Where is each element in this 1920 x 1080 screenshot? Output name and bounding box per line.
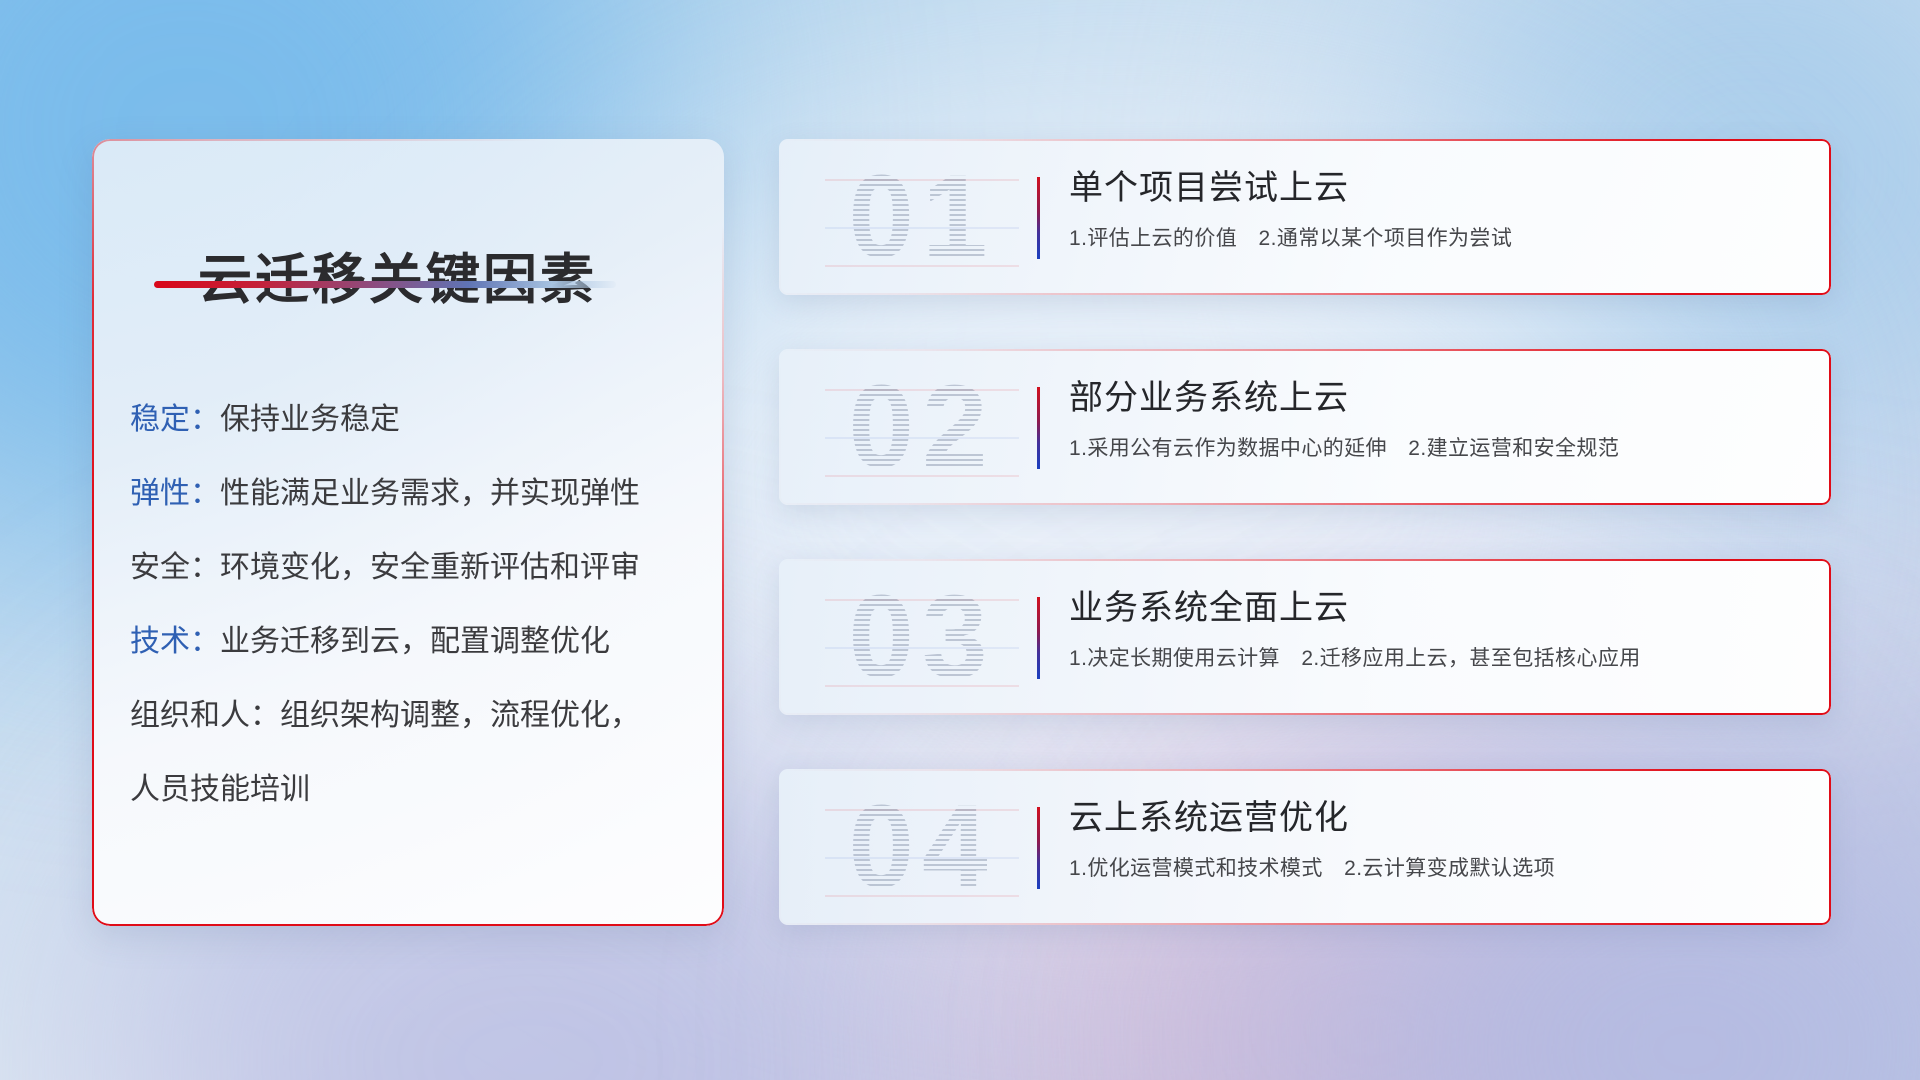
- step-title: 业务系统全面上云: [1069, 585, 1809, 631]
- migration-steps-list: 01 单个项目尝试上云 1.评估上云的价值 2.通常以某个项目作为尝试 02 部…: [779, 139, 1831, 979]
- step-card[interactable]: 03 业务系统全面上云 1.决定长期使用云计算 2.迁移应用上云，甚至包括核心应…: [779, 559, 1831, 715]
- step-subtitle: 1.优化运营模式和技术模式 2.云计算变成默认选项: [1069, 855, 1809, 883]
- step-divider-bar: [1037, 807, 1040, 889]
- factor-text: 保持业务稳定: [220, 403, 400, 436]
- factor-label: 技术：: [130, 625, 220, 658]
- step-subtitle: 1.采用公有云作为数据中心的延伸 2.建立运营和安全规范: [1069, 435, 1809, 463]
- step-number-label: 03: [848, 569, 995, 705]
- factor-text: 环境变化，安全重新评估和评审: [220, 551, 640, 584]
- step-subtitle: 1.评估上云的价值 2.通常以某个项目作为尝试: [1069, 225, 1809, 253]
- factor-label: 安全：: [130, 551, 220, 584]
- step-number-graphic: 04: [817, 771, 1027, 923]
- step-title: 云上系统运营优化: [1069, 795, 1809, 841]
- factor-text: 组织架构调整，流程优化，: [280, 699, 640, 732]
- factor-label: 组织和人：: [130, 699, 280, 732]
- step-divider-bar: [1037, 387, 1040, 469]
- factor-text: 业务迁移到云，配置调整优化: [220, 625, 610, 658]
- step-card[interactable]: 02 部分业务系统上云 1.采用公有云作为数据中心的延伸 2.建立运营和安全规范: [779, 349, 1831, 505]
- step-title: 单个项目尝试上云: [1069, 165, 1809, 211]
- factor-row: 弹性：性能满足业务需求，并实现弹性: [130, 457, 698, 531]
- factor-row: 技术：业务迁移到云，配置调整优化: [130, 605, 698, 679]
- factor-continuation-line: 人员技能培训: [130, 753, 698, 827]
- step-number-label: 02: [848, 359, 995, 495]
- step-body: 单个项目尝试上云 1.评估上云的价值 2.通常以某个项目作为尝试: [1069, 165, 1809, 253]
- step-divider-bar: [1037, 597, 1040, 679]
- step-number-graphic: 01: [817, 141, 1027, 293]
- factor-row: 安全：环境变化，安全重新评估和评审: [130, 531, 698, 605]
- step-card[interactable]: 04 云上系统运营优化 1.优化运营模式和技术模式 2.云计算变成默认选项: [779, 769, 1831, 925]
- step-body: 业务系统全面上云 1.决定长期使用云计算 2.迁移应用上云，甚至包括核心应用: [1069, 585, 1809, 673]
- step-number-graphic: 03: [817, 561, 1027, 713]
- factor-list: 稳定：保持业务稳定 弹性：性能满足业务需求，并实现弹性 安全：环境变化，安全重新…: [130, 383, 698, 827]
- step-body: 云上系统运营优化 1.优化运营模式和技术模式 2.云计算变成默认选项: [1069, 795, 1809, 883]
- factor-row: 组织和人：组织架构调整，流程优化，: [130, 679, 698, 753]
- step-subtitle: 1.决定长期使用云计算 2.迁移应用上云，甚至包括核心应用: [1069, 645, 1809, 673]
- step-number-label: 04: [848, 779, 995, 915]
- step-card[interactable]: 01 单个项目尝试上云 1.评估上云的价值 2.通常以某个项目作为尝试: [779, 139, 1831, 295]
- key-factors-panel: 云迁移关键因素 稳定：保持业务稳定 弹性：性能满足业务需求，并实现弹性 安全：环…: [92, 139, 724, 926]
- step-title: 部分业务系统上云: [1069, 375, 1809, 421]
- step-divider-bar: [1037, 177, 1040, 259]
- step-body: 部分业务系统上云 1.采用公有云作为数据中心的延伸 2.建立运营和安全规范: [1069, 375, 1809, 463]
- factor-row: 稳定：保持业务稳定: [130, 383, 698, 457]
- page-title: 云迁移关键因素: [198, 235, 597, 314]
- step-number-graphic: 02: [817, 351, 1027, 503]
- factor-text: 性能满足业务需求，并实现弹性: [220, 477, 640, 510]
- slide-canvas: 云迁移关键因素 稳定：保持业务稳定 弹性：性能满足业务需求，并实现弹性 安全：环…: [0, 0, 1920, 1080]
- factor-label: 弹性：: [130, 477, 220, 510]
- title-underline-rule: [154, 281, 616, 288]
- factor-label: 稳定：: [130, 403, 220, 436]
- step-number-label: 01: [848, 149, 995, 285]
